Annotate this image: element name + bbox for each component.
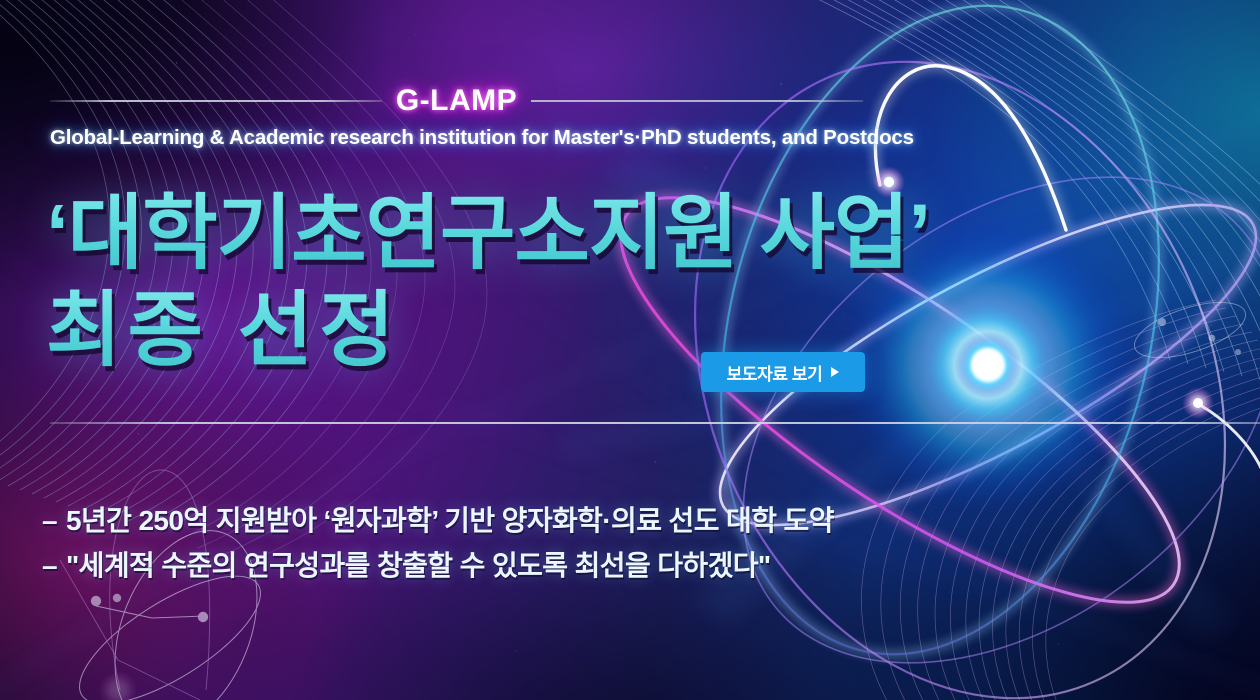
press-release-button[interactable]: 보도자료 보기 [701,352,865,392]
bullet-dash: – [42,498,57,543]
divider-left [50,100,382,102]
bullet-list: – 5년간 250억 지원받아 ‘원자과학’ 기반 양자화학·의료 선도 대학 … [42,498,834,589]
bullet-text: 5년간 250억 지원받아 ‘원자과학’ 기반 양자화학·의료 선도 대학 도약 [66,498,834,543]
divider-right [531,100,863,102]
bullet-item: – "세계적 수준의 연구성과를 창출할 수 있도록 최선을 다하겠다" [42,543,834,588]
banner-content: G-LAMP Global-Learning & Academic resear… [0,0,1260,700]
glamp-promo-banner: G-LAMP Global-Learning & Academic resear… [0,0,1260,700]
divider-middle [50,422,1260,424]
press-release-button-label: 보도자료 보기 [727,360,823,385]
bullet-dash: – [42,543,57,588]
bullet-text: "세계적 수준의 연구성과를 창출할 수 있도록 최선을 다하겠다" [66,543,771,588]
bullet-item: – 5년간 250억 지원받아 ‘원자과학’ 기반 양자화학·의료 선도 대학 … [42,498,834,543]
brand-name: G-LAMP [396,86,517,116]
brand-tagline: Global-Learning & Academic research inst… [50,126,863,150]
play-triangle-icon [831,367,839,377]
headline-line-1: ‘대학기초연구소지원 사업’ [46,186,930,281]
brand-eyebrow: G-LAMP [50,86,863,116]
headline-block: ‘대학기초연구소지원 사업’ 최종 선정 [46,186,930,378]
